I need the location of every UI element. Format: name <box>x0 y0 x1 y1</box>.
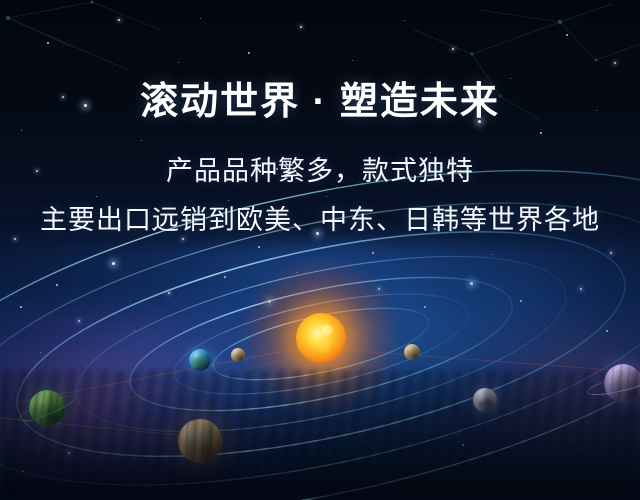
banner-subline-2: 主要出口远销到欧美、中东、日韩等世界各地 <box>0 205 640 236</box>
earth-planet <box>189 349 211 371</box>
banner-subline-1: 产品品种繁多，款式独特 <box>0 156 640 187</box>
earth-planet-surface <box>189 349 211 371</box>
small-tan-moon <box>231 348 245 362</box>
dust-lane-overlay <box>0 370 640 500</box>
sun-surface-detail <box>296 313 346 363</box>
banner-text-block: 滚动世界 · 塑造未来 产品品种繁多，款式独特 主要出口远销到欧美、中东、日韩等… <box>0 0 640 236</box>
amber-planet-surface <box>404 344 420 360</box>
banner-headline: 滚动世界 · 塑造未来 <box>0 82 640 124</box>
amber-planet-right <box>404 344 420 360</box>
small-tan-moon-surface <box>231 348 245 362</box>
space-banner: 滚动世界 · 塑造未来 产品品种繁多，款式独特 主要出口远销到欧美、中东、日韩等… <box>0 0 640 500</box>
starfield: 滚动世界 · 塑造未来 产品品种繁多，款式独特 主要出口远销到欧美、中东、日韩等… <box>0 0 640 500</box>
